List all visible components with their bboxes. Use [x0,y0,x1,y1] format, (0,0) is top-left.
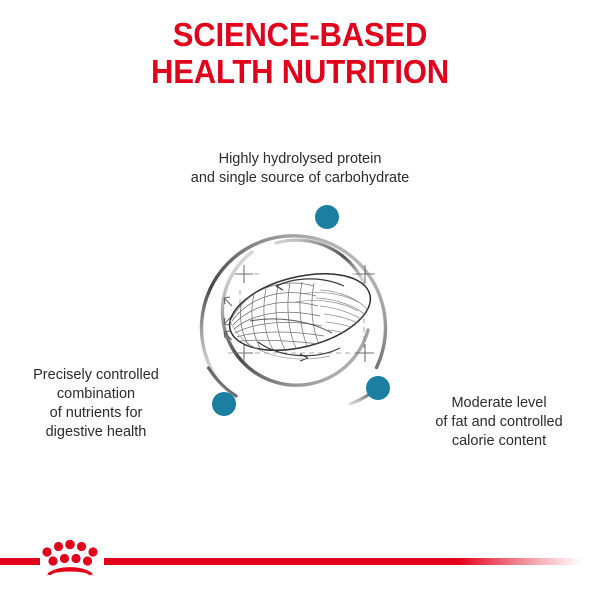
kibble-sketch [222,261,379,364]
royal-canin-crown-icon [42,540,97,576]
callout-left-line-1: Precisely controlled [6,366,186,385]
callout-top: Highly hydrolysed protein and single sou… [0,150,600,188]
brand-footer [0,528,600,600]
node-dot-right [366,376,390,400]
callout-right: Moderate level of fat and controlled cal… [404,394,594,451]
headline-line-1: SCIENCE-BASED [18,16,582,53]
node-dot-top [315,205,339,229]
callout-left-line-3: of nutrients for [6,404,186,423]
callout-right-line-1: Moderate level [404,394,594,413]
brand-bar-left [0,558,40,565]
callout-left-line-2: combination [6,385,186,404]
callout-left-line-4: digestive health [6,423,186,442]
page-title: SCIENCE-BASED HEALTH NUTRITION [18,16,582,90]
kibble-diagram [180,190,420,430]
callout-top-line-2: and single source of carbohydrate [0,169,600,188]
callout-left: Precisely controlled combination of nutr… [6,366,186,442]
brand-bar-right [104,558,582,565]
callout-top-line-1: Highly hydrolysed protein [0,150,600,169]
headline-line-2: HEALTH NUTRITION [18,53,582,90]
callout-right-line-3: calorie content [404,432,594,451]
promo-panel: SCIENCE-BASED HEALTH NUTRITION Highly hy… [0,0,600,600]
callout-right-line-2: of fat and controlled [404,413,594,432]
node-dot-bottom-left [212,392,236,416]
